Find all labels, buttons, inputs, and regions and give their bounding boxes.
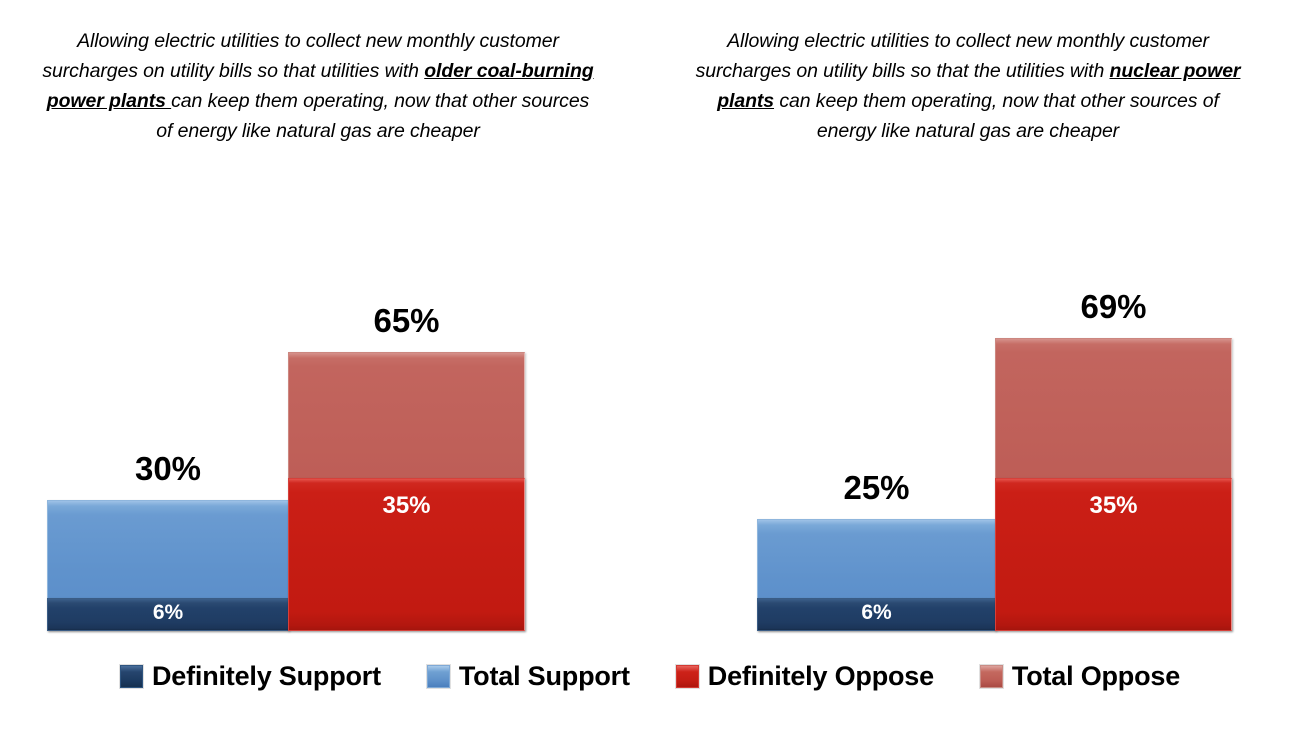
label-definitely-support-coal: 6% (47, 601, 289, 625)
label-total-oppose-nuclear: 69% (995, 288, 1232, 326)
bar-total-oppose-coal[interactable] (288, 352, 525, 631)
legend-swatch-icon-total-support (427, 665, 450, 688)
label-definitely-oppose-nuclear: 35% (995, 492, 1232, 520)
bar-total-support-coal[interactable] (47, 500, 289, 631)
label-definitely-support-nuclear: 6% (757, 601, 996, 625)
legend-swatch-icon-total-oppose (980, 665, 1003, 688)
legend-item-definitely-support[interactable]: Definitely Support (120, 661, 381, 692)
bar-definitely-support-coal[interactable] (47, 598, 289, 631)
bar-definitely-support-nuclear[interactable] (757, 598, 996, 631)
legend-swatch-icon-definitely-support (120, 665, 143, 688)
legend-item-total-support[interactable]: Total Support (427, 661, 630, 692)
panel-title-coal: Allowing electric utilities to collect n… (38, 26, 598, 146)
label-total-support-nuclear: 25% (757, 469, 996, 507)
legend-swatch-icon-definitely-oppose (676, 665, 699, 688)
panel-title-nuclear: Allowing electric utilities to collect n… (688, 26, 1248, 146)
legend-label-definitely-support: Definitely Support (152, 661, 381, 692)
bar-definitely-oppose-coal[interactable] (288, 478, 525, 631)
legend-item-definitely-oppose[interactable]: Definitely Oppose (676, 661, 934, 692)
label-definitely-oppose-coal: 35% (288, 492, 525, 520)
label-total-oppose-coal: 65% (288, 302, 525, 340)
title-text-part2: can keep them operating, now that other … (774, 90, 1219, 142)
legend-label-total-oppose: Total Oppose (1012, 661, 1180, 692)
bar-total-oppose-nuclear[interactable] (995, 338, 1232, 631)
chart-legend: Definitely Support Total Support Definit… (0, 648, 1300, 704)
label-total-support-coal: 30% (47, 450, 289, 488)
legend-label-definitely-oppose: Definitely Oppose (708, 661, 934, 692)
bar-total-support-nuclear[interactable] (757, 519, 996, 631)
bar-definitely-oppose-nuclear[interactable] (995, 478, 1232, 631)
legend-item-total-oppose[interactable]: Total Oppose (980, 661, 1180, 692)
title-text-part2: can keep them operating, now that other … (156, 90, 589, 142)
legend-label-total-support: Total Support (459, 661, 630, 692)
